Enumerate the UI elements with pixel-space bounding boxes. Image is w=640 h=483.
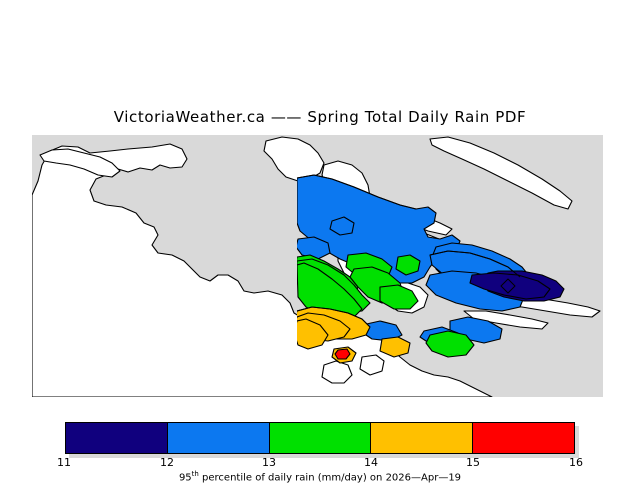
colorbar-panel: 11 12 13 14 15 16 95th percentile of dai… [0, 414, 640, 480]
colorbar-segment-13-14 [270, 423, 372, 453]
colorbar-segment-12-13 [168, 423, 270, 453]
weather-map-figure: VictoriaWeather.ca —— Spring Total Daily… [0, 0, 640, 480]
colorbar-tick-13: 13 [262, 456, 276, 469]
data-region-red [335, 349, 350, 359]
colorbar-caption: 95th percentile of daily rain (mm/day) o… [0, 470, 640, 483]
map-panel [32, 135, 603, 397]
land-bottom-bit-1 [322, 361, 352, 383]
colorbar-tick-16: 16 [569, 456, 583, 469]
colorbar-tick-11: 11 [57, 456, 71, 469]
caption-rest: percentile of daily rain (mm/day) on 202… [199, 472, 461, 483]
figure-title: VictoriaWeather.ca —— Spring Total Daily… [0, 108, 640, 126]
map-svg [32, 135, 603, 397]
colorbar-segment-15-16 [473, 423, 574, 453]
colorbar-tick-15: 15 [466, 456, 480, 469]
caption-prefix: 95 [179, 472, 192, 483]
colorbar [65, 422, 575, 454]
colorbar-tick-12: 12 [160, 456, 174, 469]
colorbar-segment-11-12 [66, 423, 168, 453]
colorbar-segment-14-15 [371, 423, 473, 453]
colorbar-tick-14: 14 [364, 456, 378, 469]
caption-superscript: th [192, 470, 199, 478]
